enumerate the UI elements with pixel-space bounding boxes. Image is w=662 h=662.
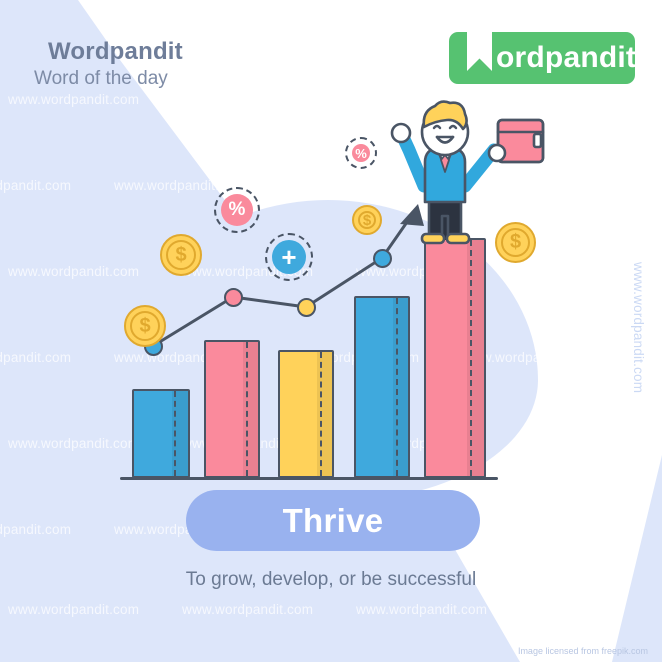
growth-chart-illustration: $ $ $ $ % + % — [0, 0, 662, 662]
word-definition: To grow, develop, or be successful — [0, 569, 662, 591]
word-pill[interactable]: Thrive — [186, 490, 480, 551]
image-credit: Image licensed from freepik.com — [518, 646, 648, 656]
businessman-character — [0, 0, 662, 662]
word-term: Thrive — [283, 502, 384, 540]
word-of-the-day-card: www.wordpandit.com www.wordpandit.com ww… — [0, 0, 662, 662]
